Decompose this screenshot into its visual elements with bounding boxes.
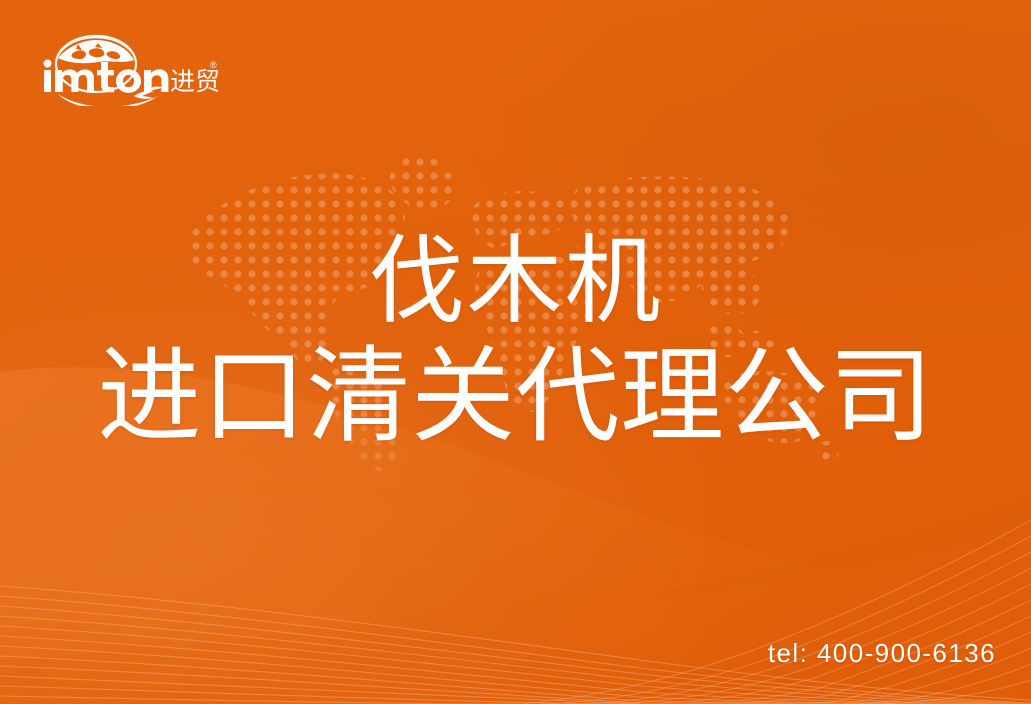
logo-chinese-name: 进贸通 [170, 67, 218, 96]
company-logo[interactable]: 进贸通 ® [38, 30, 218, 106]
wordmark-imton [44, 60, 169, 93]
globe-arc-icon [56, 35, 136, 92]
headline-line-1: 伐木机 [0, 226, 1031, 338]
promo-banner: 进贸通 ® 伐木机 进口清关代理公司 tel: 400-900-6136 [0, 0, 1031, 704]
headline-block: 伐木机 进口清关代理公司 [0, 226, 1031, 456]
headline-line-2: 进口清关代理公司 [0, 338, 1031, 456]
trademark-icon: ® [210, 60, 217, 70]
contact-phone[interactable]: tel: 400-900-6136 [768, 638, 996, 669]
